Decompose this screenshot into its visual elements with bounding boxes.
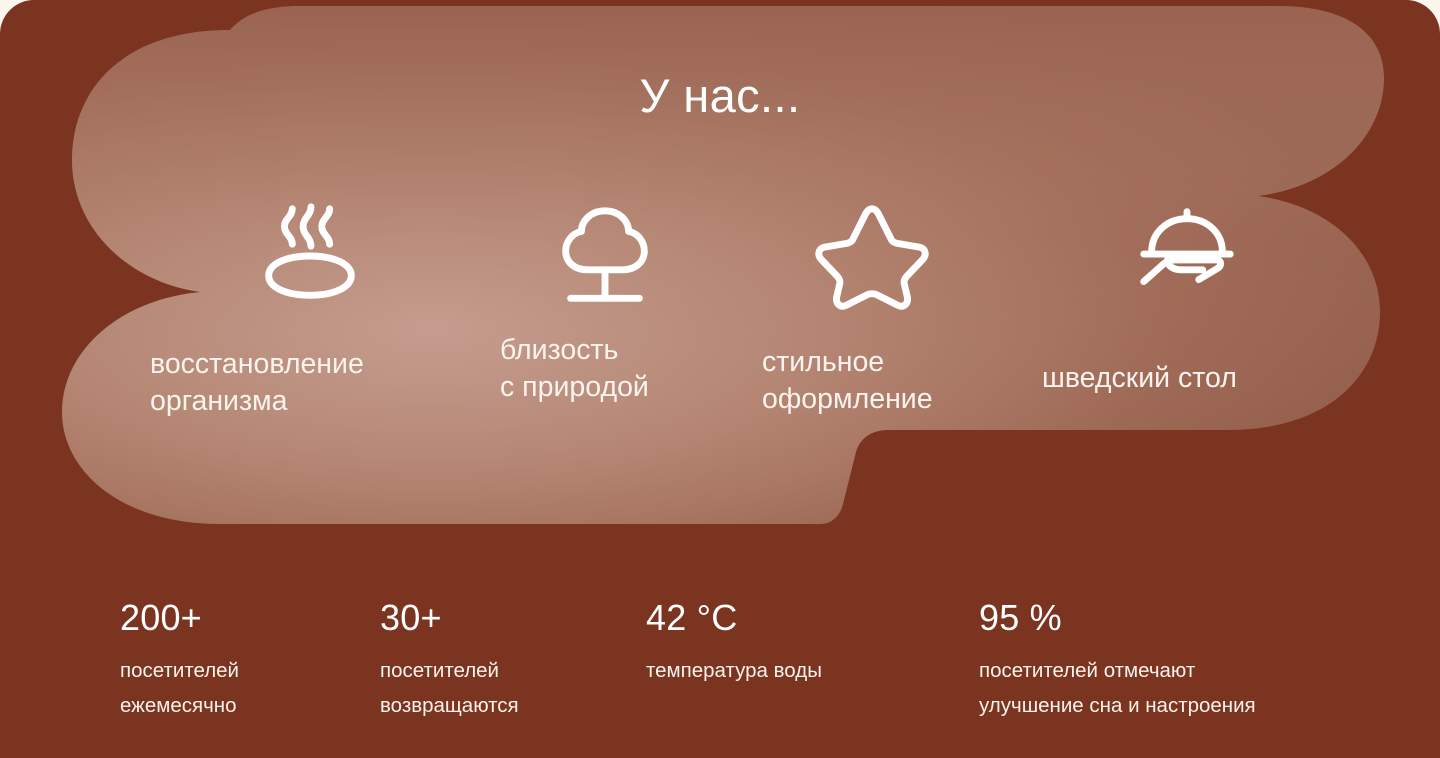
stat-description: температура воды xyxy=(646,653,979,688)
feature-item-style[interactable]: стильное оформление xyxy=(762,196,1042,418)
page-title: У нас... xyxy=(0,68,1440,123)
stat-description: посетителей возвращаются xyxy=(380,653,646,724)
stat-description: посетителей ежемесячно xyxy=(120,653,380,724)
feature-label: шведский стол xyxy=(1042,360,1330,397)
feature-item-recovery[interactable]: восстановление организма xyxy=(150,196,500,420)
features-row: восстановление организма близость с прир… xyxy=(150,196,1330,420)
feature-label: стильное оформление xyxy=(762,344,1042,418)
stat-value: 95 % xyxy=(979,600,1379,636)
stat-item-returning: 30+ посетителей возвращаются xyxy=(380,600,646,724)
stat-value: 200+ xyxy=(120,600,380,636)
stat-item-sleep-improvement: 95 % посетителей отмечают улучшение сна … xyxy=(979,600,1379,724)
stat-value: 42 °C xyxy=(646,600,979,636)
feature-label: близость с природой xyxy=(500,332,762,406)
feature-item-nature[interactable]: близость с природой xyxy=(500,196,762,406)
feature-label: восстановление организма xyxy=(150,346,500,420)
hot-spring-icon xyxy=(230,196,390,316)
stats-row: 200+ посетителей ежемесячно 30+ посетите… xyxy=(120,600,1379,724)
stat-value: 30+ xyxy=(380,600,646,636)
stat-item-visitors-monthly: 200+ посетителей ежемесячно xyxy=(120,600,380,724)
stat-item-water-temperature: 42 °C температура воды xyxy=(646,600,979,724)
star-icon xyxy=(797,196,947,316)
feature-item-buffet[interactable]: шведский стол xyxy=(1042,196,1330,397)
stat-description: посетителей отмечают улучшение сна и нас… xyxy=(979,653,1379,724)
room-service-icon xyxy=(1107,196,1267,316)
tree-icon xyxy=(530,196,680,316)
slide-canvas: У нас... восстановление организма xyxy=(0,0,1440,758)
